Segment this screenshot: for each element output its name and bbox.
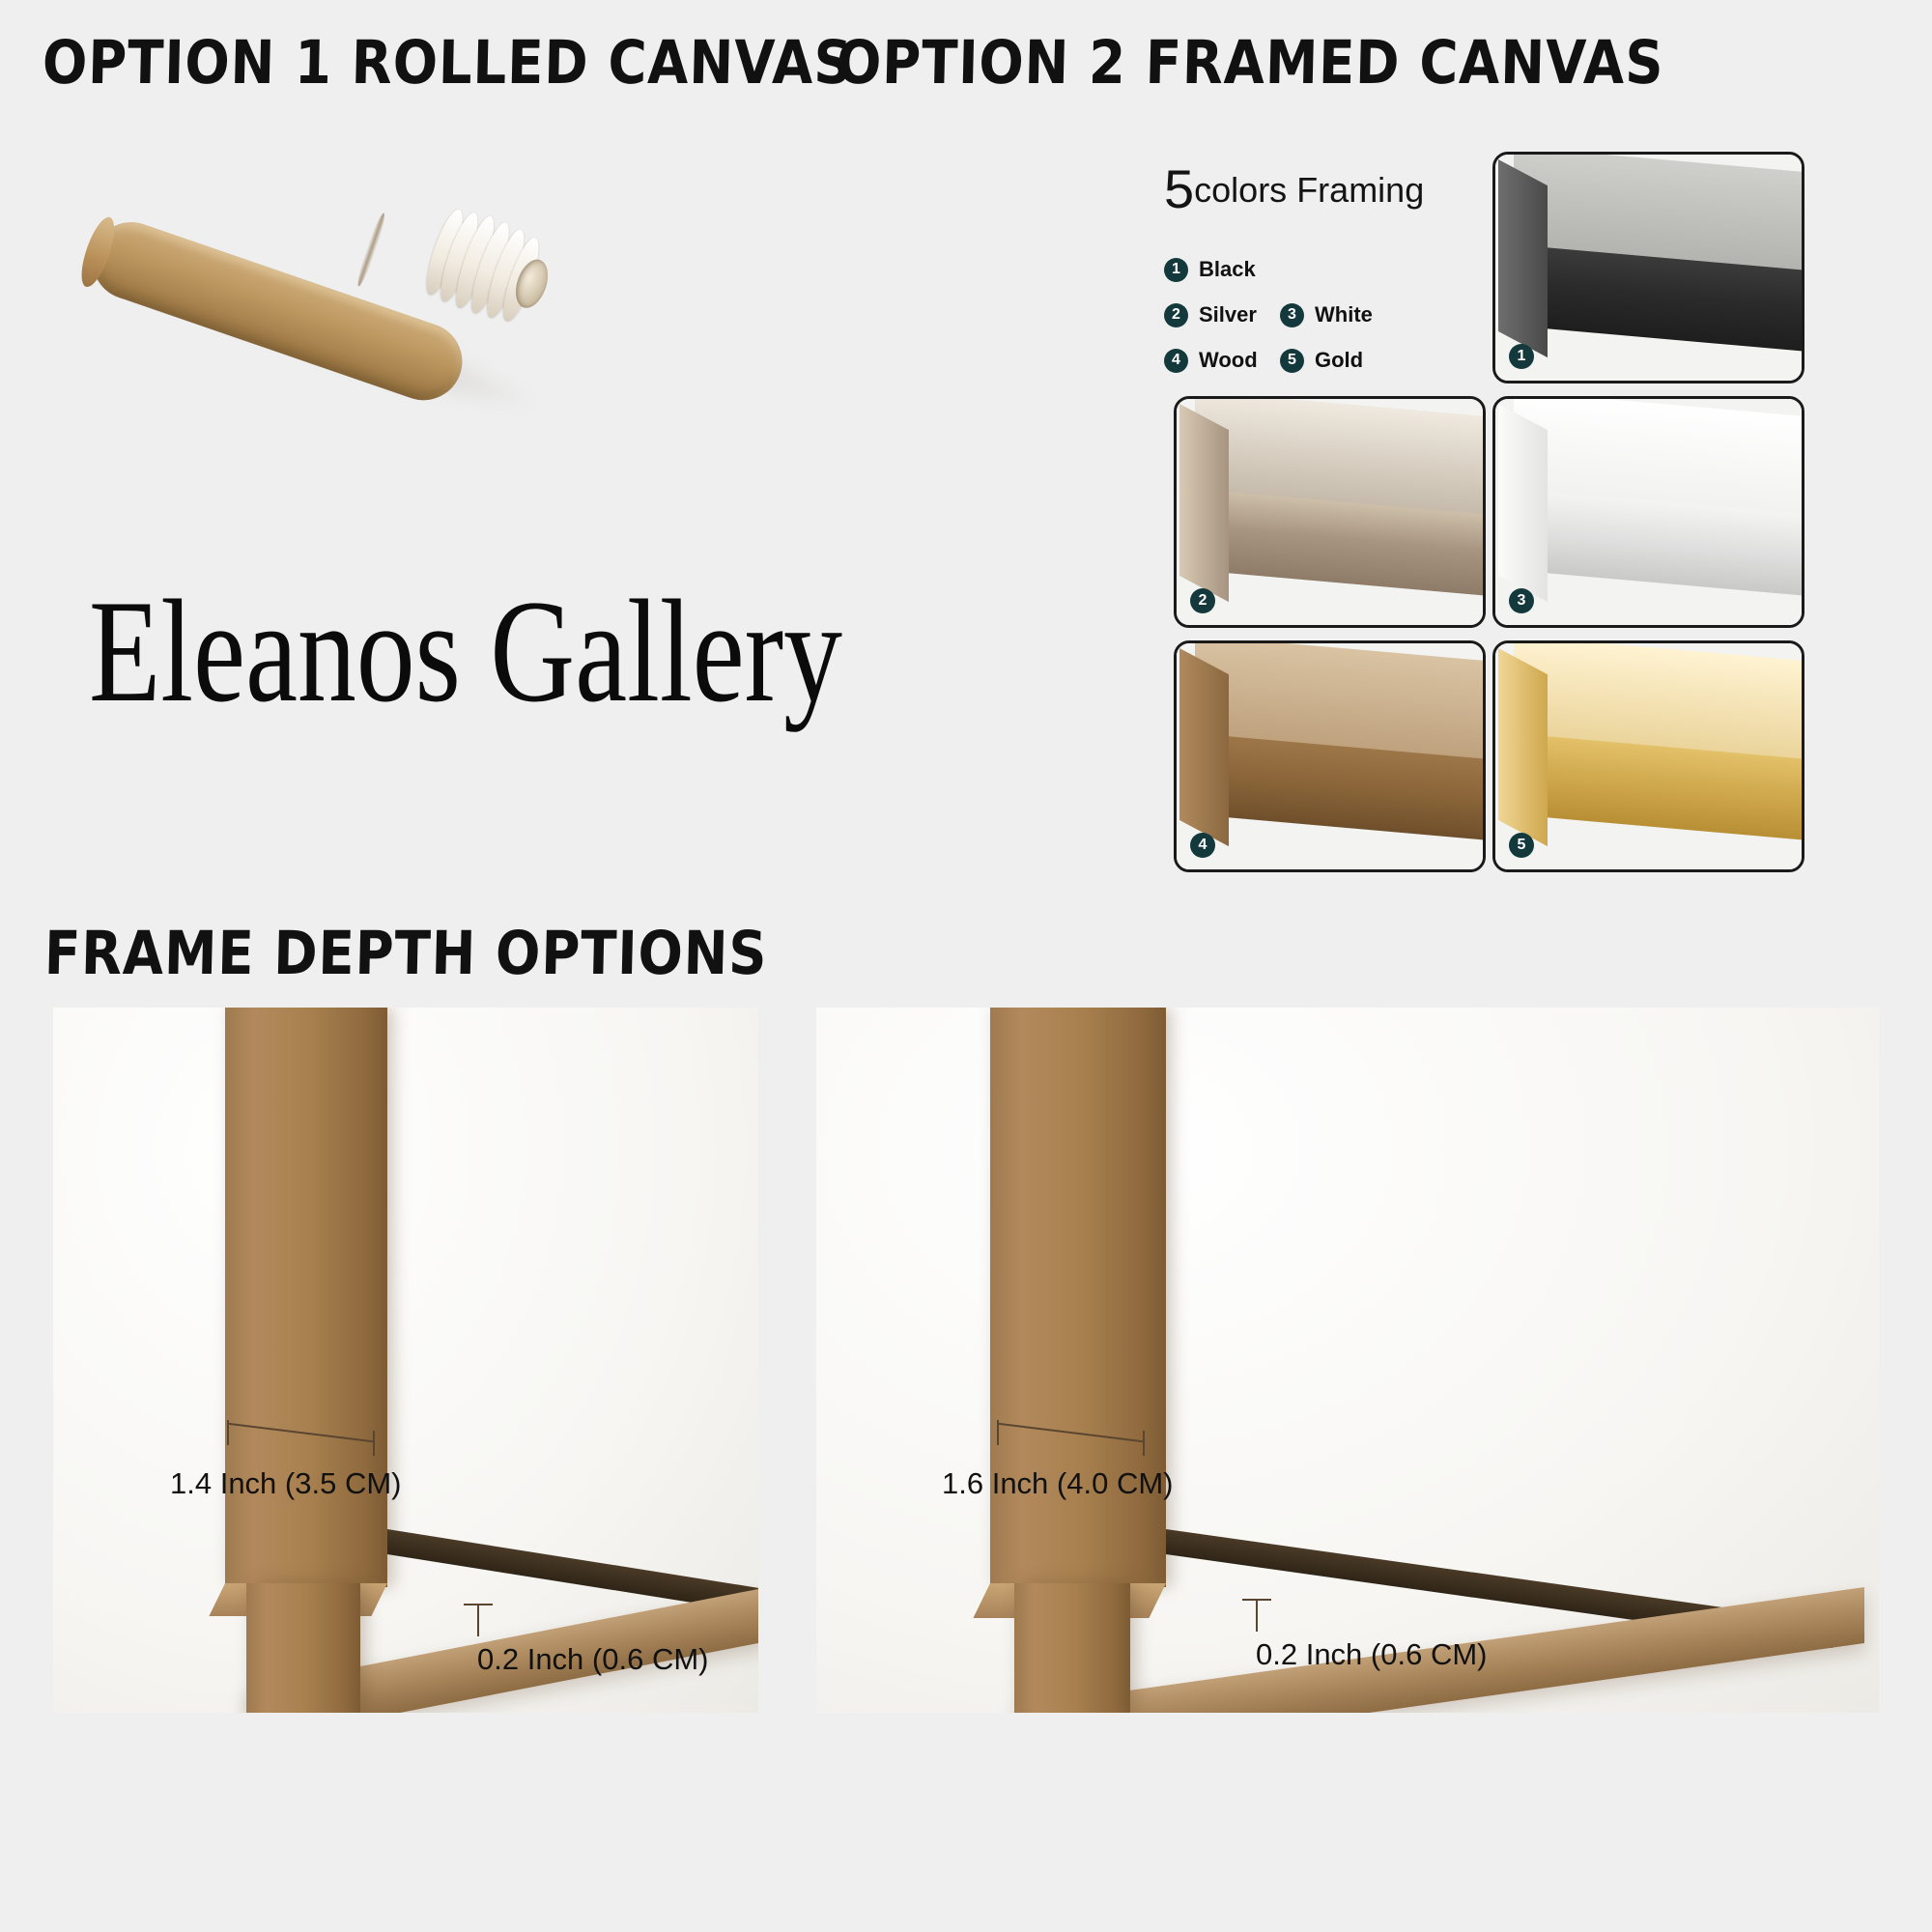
rolled-canvas-icon xyxy=(419,203,568,334)
legend-label: Black xyxy=(1199,257,1256,282)
frame-depth-photo-1-4-inch: 1.4 Inch (3.5 CM) 0.2 Inch (0.6 CM) xyxy=(53,1008,758,1713)
frame-swatch-black[interactable]: 1 xyxy=(1492,152,1804,384)
dimension-label-frame-depth-left: 1.4 Inch (3.5 CM) xyxy=(170,1466,401,1501)
frame-corner-photo xyxy=(1177,643,1483,869)
frame-swatch-silver[interactable]: 2 xyxy=(1174,396,1486,628)
gap-measure-tick-left xyxy=(477,1604,479,1636)
legend-row: 4 Wood 5 Gold xyxy=(1164,348,1483,373)
dimension-label-float-gap-right: 0.2 Inch (0.6 CM) xyxy=(1256,1637,1487,1672)
frame-corner-photo xyxy=(1495,399,1802,625)
frame-swatch-wood[interactable]: 4 xyxy=(1174,640,1486,872)
number-badge-icon: 4 xyxy=(1164,349,1188,373)
frame-side-return xyxy=(1498,404,1548,602)
heading-option-2-framed-canvas: OPTION 2 FRAMED CANVAS xyxy=(836,27,1664,98)
framing-title-rest: colors Framing xyxy=(1194,170,1424,210)
framing-legend-title: 5colors Framing xyxy=(1164,162,1483,216)
framing-count: 5 xyxy=(1164,158,1194,219)
frame-near-corner-post xyxy=(1014,1583,1130,1713)
number-badge-icon: 2 xyxy=(1164,303,1188,327)
number-badge-icon: 2 xyxy=(1190,588,1215,613)
frame-side-return xyxy=(1179,404,1229,602)
frame-side-return xyxy=(1498,648,1548,846)
legend-item-black[interactable]: 1 Black xyxy=(1164,257,1280,282)
heading-frame-depth-options: FRAME DEPTH OPTIONS xyxy=(43,918,768,988)
frame-corner-photo xyxy=(1495,643,1802,869)
gap-measure-cap-left xyxy=(464,1604,493,1605)
legend-label: Wood xyxy=(1199,348,1258,373)
legend-item-white[interactable]: 3 White xyxy=(1280,302,1373,327)
number-badge-icon: 3 xyxy=(1280,303,1304,327)
number-badge-icon: 5 xyxy=(1509,833,1534,858)
legend-label: White xyxy=(1315,302,1373,327)
depth-measure-tick-start-left xyxy=(227,1420,229,1445)
frame-depth-photo-1-6-inch xyxy=(816,1008,1879,1713)
frame-swatch-gold[interactable]: 5 xyxy=(1492,640,1804,872)
dimension-label-frame-depth-right: 1.6 Inch (4.0 CM) xyxy=(942,1466,1173,1501)
depth-measure-tick-end-left xyxy=(373,1431,375,1456)
rolled-canvas-tube-image xyxy=(77,159,599,440)
canvas-background xyxy=(53,1008,758,1713)
legend-label: Silver xyxy=(1199,302,1257,327)
legend-row: 2 Silver 3 White xyxy=(1164,302,1483,327)
gap-measure-tick-right xyxy=(1256,1599,1258,1632)
legend-item-wood[interactable]: 4 Wood xyxy=(1164,348,1280,373)
framing-legend-list: 1 Black 2 Silver 3 White 4 Wood 5 Gold xyxy=(1164,257,1483,373)
brand-wordmark: Eleanos Gallery xyxy=(89,578,842,724)
legend-item-gold[interactable]: 5 Gold xyxy=(1280,348,1363,373)
number-badge-icon: 1 xyxy=(1164,258,1188,282)
frame-corner-photo xyxy=(1495,155,1802,381)
number-badge-icon: 3 xyxy=(1509,588,1534,613)
depth-measure-tick-start-right xyxy=(997,1420,999,1445)
framing-colors-legend: 5colors Framing 1 Black 2 Silver 3 White… xyxy=(1164,162,1483,393)
gap-measure-cap-right xyxy=(1242,1599,1271,1601)
depth-measure-tick-end-right xyxy=(1143,1431,1145,1456)
number-badge-icon: 4 xyxy=(1190,833,1215,858)
frame-side-return xyxy=(1498,159,1548,357)
number-badge-icon: 5 xyxy=(1280,349,1304,373)
legend-row: 1 Black xyxy=(1164,257,1483,282)
dimension-label-float-gap-left: 0.2 Inch (0.6 CM) xyxy=(477,1642,708,1677)
frame-near-corner-post xyxy=(246,1583,360,1713)
number-badge-icon: 1 xyxy=(1509,344,1534,369)
legend-label: Gold xyxy=(1315,348,1363,373)
tube-body xyxy=(82,212,472,411)
frame-swatch-white[interactable]: 3 xyxy=(1492,396,1804,628)
frame-side-return xyxy=(1179,648,1229,846)
tube-seam xyxy=(355,212,388,288)
legend-item-silver[interactable]: 2 Silver xyxy=(1164,302,1280,327)
heading-option-1-rolled-canvas: OPTION 1 ROLLED CANVAS xyxy=(42,27,853,98)
frame-corner-photo xyxy=(1177,399,1483,625)
